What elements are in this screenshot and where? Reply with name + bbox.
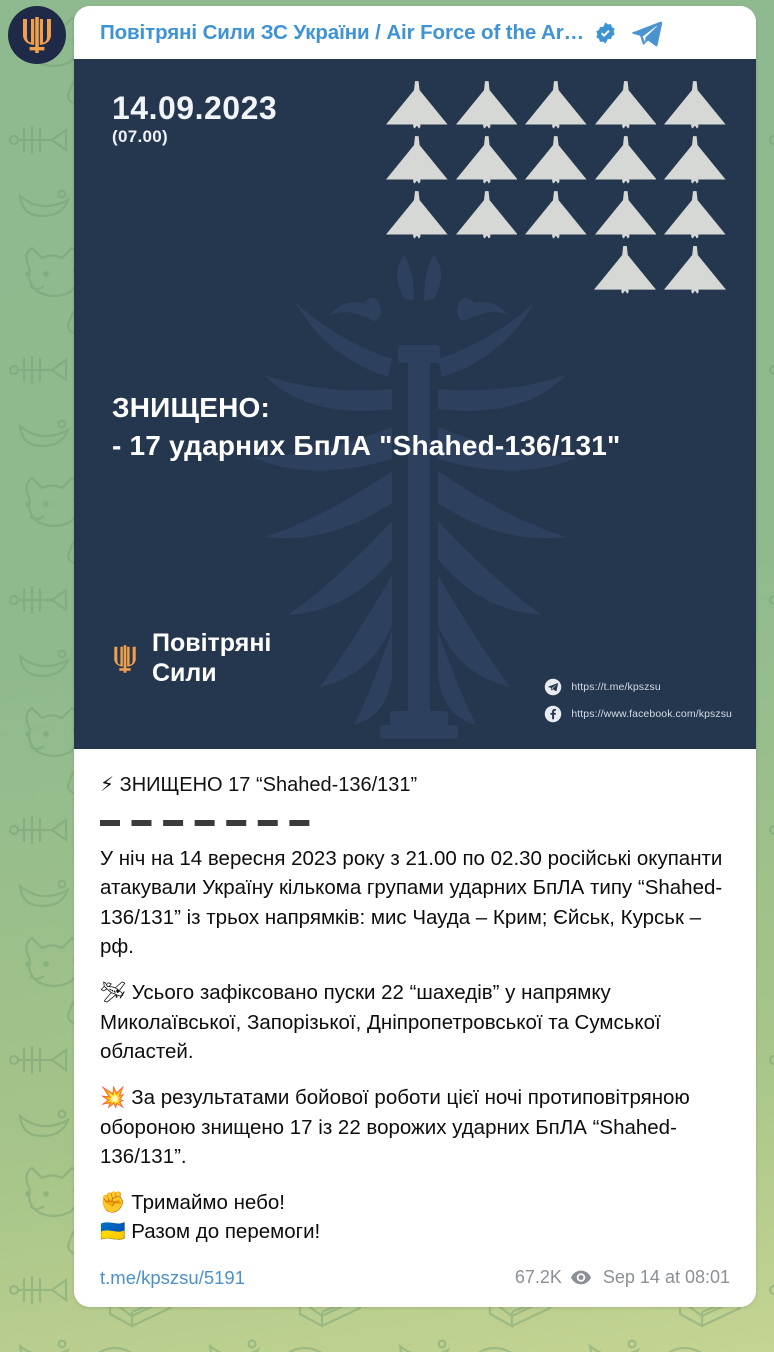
high-voltage-emoji-icon: ⚡ <box>100 772 114 796</box>
post-header: Повітряні Сили ЗС України / Air Force of… <box>74 6 756 59</box>
closing-line-2: 🇺🇦 Разом до перемоги! <box>100 1217 730 1246</box>
view-count: 67.2K <box>515 1267 562 1288</box>
graphic-social-links: https://t.me/kpszsu https://www.facebook… <box>544 678 732 723</box>
eye-icon <box>571 1270 591 1285</box>
collision-emoji-icon: 💥 <box>100 1085 126 1109</box>
graphic-date: 14.09.2023 <box>112 92 277 124</box>
post-timestamp: Sep 14 at 08:01 <box>603 1267 730 1288</box>
shahed-drone-icon <box>595 191 657 241</box>
shahed-drone-icon <box>525 81 587 131</box>
channel-avatar[interactable] <box>8 6 66 64</box>
brand-text: Повітряні Сили <box>152 629 271 688</box>
shahed-drone-icon <box>664 246 726 296</box>
graphic-link-telegram[interactable]: https://t.me/kpszsu <box>544 678 732 696</box>
post-title-text: ЗНИЩЕНО 17 “Shahed-136/131” <box>120 774 418 796</box>
shahed-drone-icon <box>594 246 656 296</box>
drone-emoji-icon: 🛩 <box>100 980 126 1004</box>
shahed-drone-icon <box>386 191 448 241</box>
shahed-drone-icon <box>595 136 657 186</box>
post-permalink[interactable]: t.me/kpszsu/5191 <box>100 1267 245 1289</box>
post-footer: t.me/kpszsu/5191 67.2K Sep 14 at 08:01 <box>74 1253 756 1307</box>
chat-wallpaper: Повітряні Сили ЗС України / Air Force of… <box>0 0 774 1352</box>
facebook-url: https://www.facebook.com/kpszsu <box>571 708 732 720</box>
paragraph-1-text: У ніч на 14 вересня 2023 року з 21.00 по… <box>100 847 722 958</box>
trident-icon <box>112 642 138 676</box>
shahed-drone-icon <box>456 136 518 186</box>
divider-dashes: ▬ ▬ ▬ ▬ ▬ ▬ ▬ <box>100 810 730 830</box>
shahed-drone-icon <box>386 136 448 186</box>
closing-line-2-text: Разом до перемоги! <box>131 1220 320 1243</box>
headline-label: ЗНИЩЕНО: <box>112 389 621 427</box>
channel-name[interactable]: Повітряні Сили ЗС України / Air Force of… <box>100 21 584 45</box>
graphic-brand: Повітряні Сили <box>112 629 271 688</box>
drone-row <box>386 81 726 131</box>
raised-fist-emoji-icon: ✊ <box>100 1190 126 1214</box>
paragraph-3-text: За результатами бойової роботи цієї ночі… <box>100 1086 690 1168</box>
paragraph-3: 💥 За результатами бойової роботи цієї но… <box>100 1083 730 1171</box>
graphic-headline: ЗНИЩЕНО: - 17 ударних БпЛА "Shahed-136/1… <box>112 389 621 464</box>
trident-icon <box>20 15 54 55</box>
paragraph-1: У ніч на 14 вересня 2023 року з 21.00 по… <box>100 844 730 961</box>
shahed-drone-icon <box>664 81 726 131</box>
ukraine-flag-emoji-icon: 🇺🇦 <box>100 1219 126 1243</box>
facebook-icon <box>544 705 562 723</box>
shahed-drone-icon <box>456 191 518 241</box>
headline-detail: - 17 ударних БпЛА "Shahed-136/131" <box>112 427 621 465</box>
closing-line-1-text: Тримаймо небо! <box>131 1191 285 1214</box>
graphic-time: (07.00) <box>112 127 168 147</box>
graphic-link-facebook[interactable]: https://www.facebook.com/kpszsu <box>544 705 732 723</box>
post-text-body: ⚡ ЗНИЩЕНО 17 “Shahed-136/131” ▬ ▬ ▬ ▬ ▬ … <box>74 749 756 1253</box>
drone-row <box>386 246 726 296</box>
shahed-drone-icon <box>664 191 726 241</box>
drone-row <box>386 191 726 241</box>
telegram-post-card[interactable]: Повітряні Сили ЗС України / Air Force of… <box>74 6 756 1307</box>
telegram-url: https://t.me/kpszsu <box>571 681 660 693</box>
shahed-drone-icon <box>525 191 587 241</box>
post-image[interactable]: 14.09.2023 (07.00) <box>74 59 756 749</box>
shahed-drone-icon <box>386 81 448 131</box>
telegram-icon <box>544 678 562 696</box>
paragraph-2: 🛩 Усього зафіксовано пуски 22 “шахедів” … <box>100 978 730 1066</box>
post-meta: 67.2K Sep 14 at 08:01 <box>515 1267 730 1288</box>
closing-line-1: ✊ Тримаймо небо! <box>100 1188 730 1217</box>
paragraph-2-text: Усього зафіксовано пуски 22 “шахедів” у … <box>100 981 661 1063</box>
destroyed-drone-grid <box>386 81 726 301</box>
post-title: ⚡ ЗНИЩЕНО 17 “Shahed-136/131” <box>100 771 730 798</box>
shahed-drone-icon <box>525 136 587 186</box>
shahed-drone-icon <box>595 81 657 131</box>
telegram-logo-icon[interactable] <box>631 19 663 47</box>
shahed-drone-icon <box>456 81 518 131</box>
verified-badge-icon <box>593 21 618 46</box>
shahed-drone-icon <box>664 136 726 186</box>
drone-row <box>386 136 726 186</box>
